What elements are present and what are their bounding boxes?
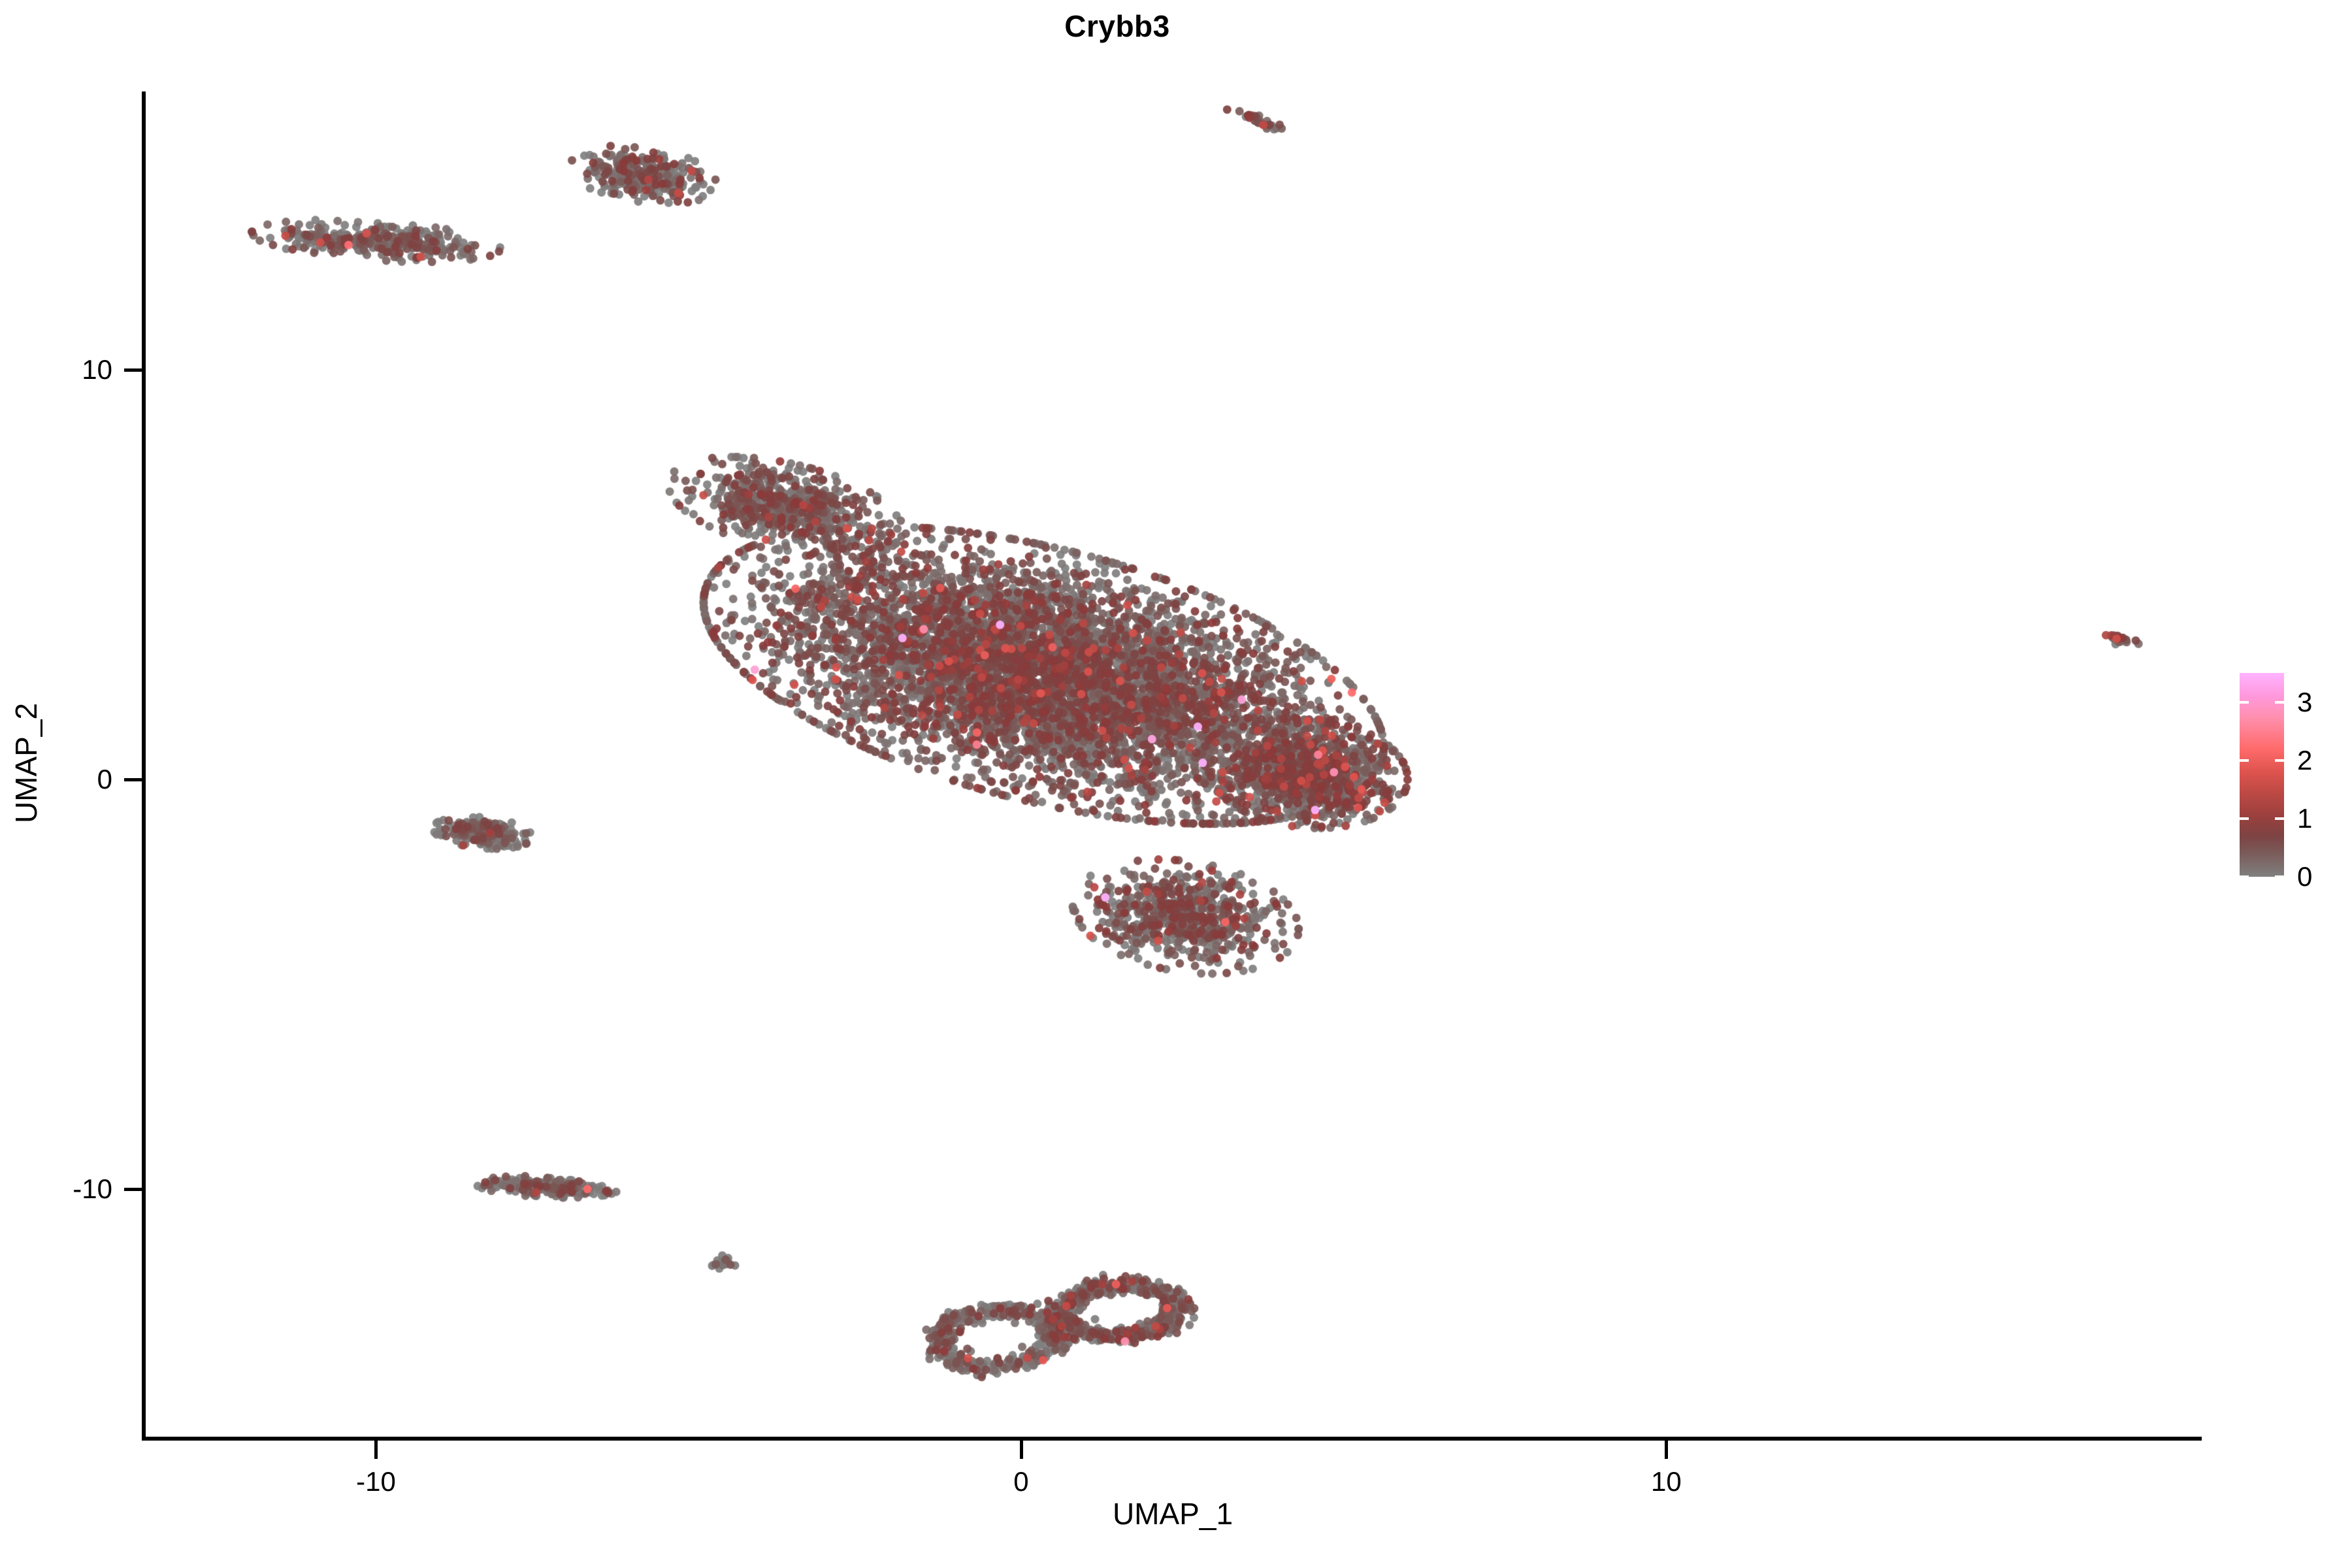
legend-tick-mark (2275, 817, 2284, 820)
x-tick-label: 0 (956, 1466, 1086, 1497)
legend-tick-label: 2 (2297, 747, 2312, 774)
legend-tick-mark (2275, 759, 2284, 762)
legend-tick-mark (2275, 701, 2284, 704)
color-legend: 0123 (2237, 666, 2348, 889)
page-title: Crybb3 (0, 7, 2234, 46)
legend-tick-label: 0 (2297, 863, 2312, 890)
umap-feature-plot: Crybb3 -10010-10010 UMAP_1 UMAP_2 0123 (0, 0, 2352, 1568)
y-tick-label: -10 (8, 1173, 112, 1205)
legend-tick-label: 1 (2297, 805, 2312, 832)
legend-tick-label: 3 (2297, 689, 2312, 716)
y-tick-label: 10 (8, 354, 112, 385)
x-tick-mark (1665, 1441, 1668, 1459)
x-tick-mark (1020, 1441, 1023, 1459)
legend-tick-mark (2240, 875, 2249, 878)
y-tick-mark (124, 1188, 142, 1191)
x-axis-line (144, 1437, 2202, 1441)
legend-colorbar (2240, 673, 2284, 877)
legend-tick-mark (2275, 875, 2284, 878)
legend-tick-mark (2240, 817, 2249, 820)
x-tick-label: -10 (310, 1466, 441, 1497)
scatter-plot-canvas (144, 91, 2202, 1439)
x-tick-mark (374, 1441, 378, 1459)
y-tick-mark (124, 778, 142, 781)
x-axis-title: UMAP_1 (144, 1496, 2202, 1531)
x-tick-label: 10 (1601, 1466, 1731, 1497)
y-axis-title: UMAP_2 (8, 436, 44, 1090)
y-tick-mark (124, 368, 142, 372)
legend-tick-mark (2240, 701, 2249, 704)
y-axis-line (142, 91, 146, 1441)
legend-tick-mark (2240, 759, 2249, 762)
plot-panel (144, 91, 2202, 1439)
